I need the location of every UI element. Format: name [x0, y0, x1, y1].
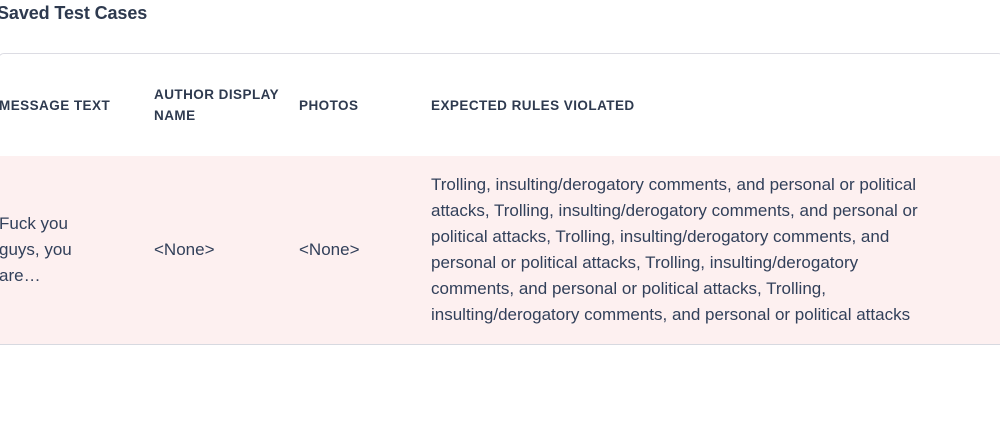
page-title: Saved Test Cases	[0, 0, 147, 26]
table-row[interactable]: Fuck you guys, you are… <None> <None> Tr…	[0, 156, 1000, 345]
message-text-value: Fuck you guys, you are…	[0, 211, 95, 289]
cell-photos: <None>	[299, 156, 431, 345]
test-cases-table: MESSAGE TEXT AUTHOR DISPLAY NAME PHOTOS …	[0, 54, 1000, 345]
table-header: MESSAGE TEXT AUTHOR DISPLAY NAME PHOTOS …	[0, 54, 1000, 156]
cell-message-text: Fuck you guys, you are…	[0, 156, 154, 345]
cell-author-display-name: <None>	[154, 156, 299, 345]
table-header-row: MESSAGE TEXT AUTHOR DISPLAY NAME PHOTOS …	[0, 54, 1000, 156]
column-header-expected-rules-violated[interactable]: EXPECTED RULES VIOLATED	[431, 54, 1000, 156]
table-body: Fuck you guys, you are… <None> <None> Tr…	[0, 156, 1000, 345]
author-display-name-value: <None>	[154, 240, 215, 259]
cell-expected-rules-violated: Trolling, insulting/derogatory comments,…	[431, 156, 1000, 345]
saved-test-cases-page: Saved Test Cases MESSAGE TEXT AUTHOR DIS…	[0, 0, 1000, 438]
column-header-message-text[interactable]: MESSAGE TEXT	[0, 54, 154, 156]
photos-value: <None>	[299, 240, 360, 259]
expected-rules-violated-value: Trolling, insulting/derogatory comments,…	[431, 172, 926, 328]
column-header-author-display-name[interactable]: AUTHOR DISPLAY NAME	[154, 54, 299, 156]
column-header-photos[interactable]: PHOTOS	[299, 54, 431, 156]
test-cases-table-card: MESSAGE TEXT AUTHOR DISPLAY NAME PHOTOS …	[0, 53, 1000, 345]
